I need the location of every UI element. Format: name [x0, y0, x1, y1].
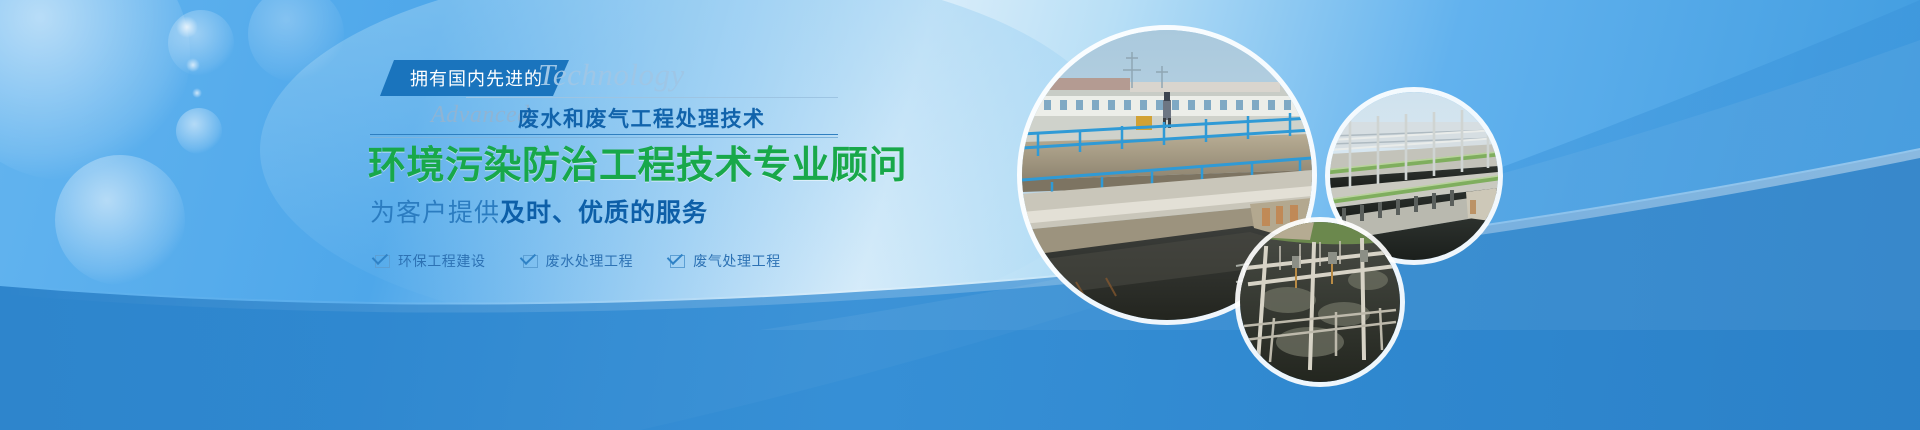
page-title: 环境污染防治工程技术专业顾问 [368, 146, 838, 187]
feature-list: 环保工程建设 废水处理工程 废气处理工程 [375, 251, 838, 271]
feature-item-2: 废气处理工程 [670, 251, 781, 271]
aeration-tank-walkway-photo [1240, 222, 1400, 382]
check-icon [375, 255, 390, 268]
feature-item-1: 废水处理工程 [523, 251, 634, 271]
subtitle-strong: 及时、优质的服务 [500, 199, 708, 227]
page-subtitle: 为客户提供及时、优质的服务 [370, 193, 838, 229]
check-icon [523, 255, 538, 268]
banner-copy-block: 拥有国内先进的 Technology Advanced 废水和废气工程处理技术 … [368, 58, 838, 271]
feature-label: 环保工程建设 [398, 251, 486, 271]
advanced-row: Advanced 废水和废气工程处理技术 [368, 102, 838, 136]
background-swoosh-decoration [0, 0, 1920, 430]
feature-item-0: 环保工程建设 [375, 251, 486, 271]
feature-label: 废气处理工程 [693, 251, 781, 271]
feature-label: 废水处理工程 [546, 251, 634, 271]
advanced-word: Advanced [431, 102, 530, 129]
double-divider [370, 134, 838, 138]
promo-banner: 拥有国内先进的 Technology Advanced 废水和废气工程处理技术 … [0, 0, 1920, 430]
advanced-subtitle: 废水和废气工程处理技术 [518, 103, 766, 133]
technology-underline [466, 97, 838, 98]
technology-word: Technology [538, 57, 685, 93]
check-icon [670, 255, 685, 268]
subtitle-plain: 为客户提供 [370, 199, 500, 227]
badge-row: 拥有国内先进的 Technology [368, 58, 838, 98]
